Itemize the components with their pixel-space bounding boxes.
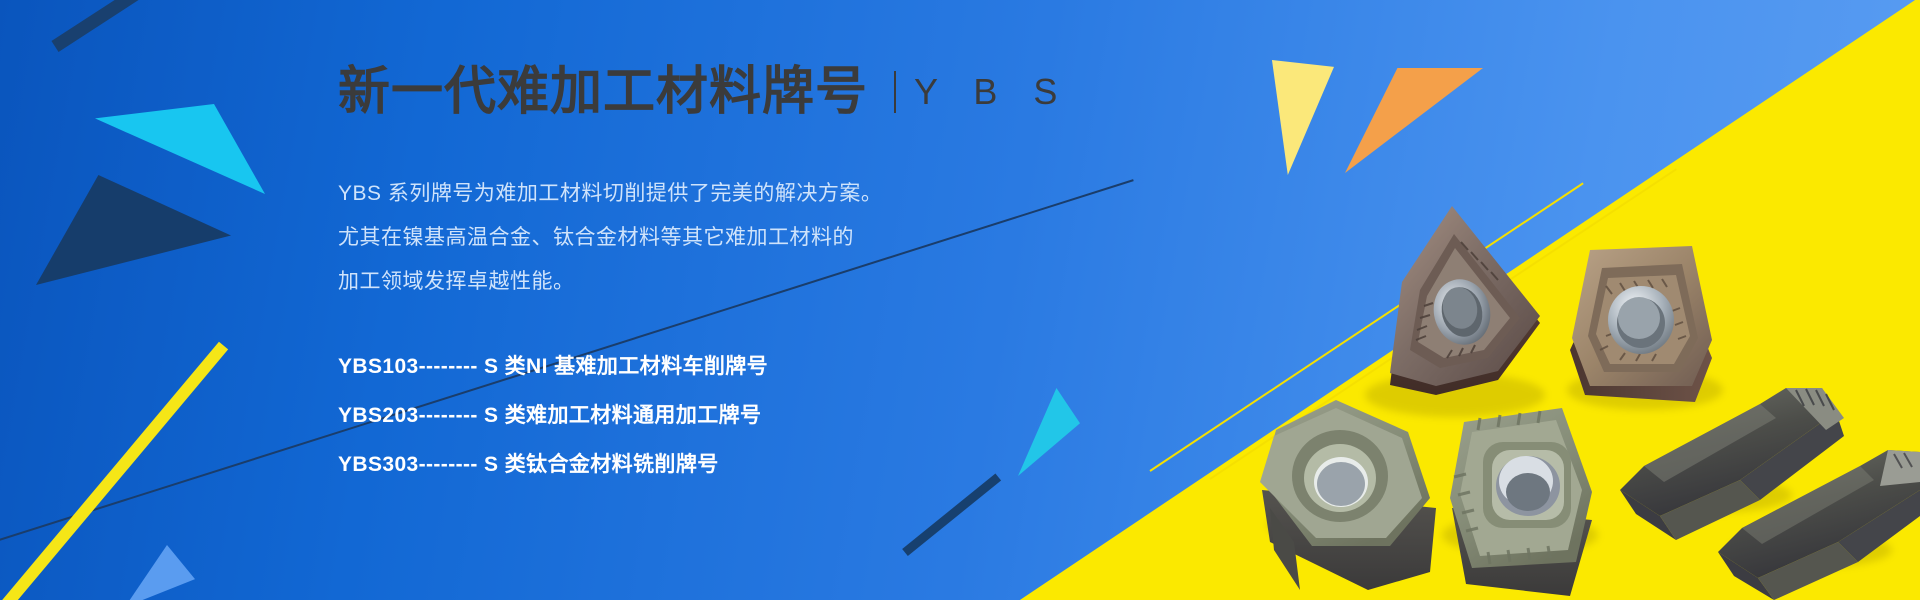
model-list: YBS103-------- S 类NI 基难加工材料车削牌号 YBS203--…: [338, 342, 1198, 489]
navy-diagonal-bar: [51, 0, 310, 52]
navy-triangle-left: [36, 175, 231, 285]
banner-copy: 新一代难加工材料牌号 Y B S YBS 系列牌号为难加工材料切削提供了完美的解…: [338, 66, 1198, 489]
orange-triangle-top: [1345, 68, 1483, 173]
model-item-ybs303: YBS303-------- S 类钛合金材料铣削牌号: [338, 440, 1198, 489]
description-line: 加工领域发挥卓越性能。: [338, 260, 1198, 304]
light-blue-triangle-bottom: [125, 545, 195, 600]
description-line: YBS 系列牌号为难加工材料切削提供了完美的解决方案。: [338, 172, 1198, 216]
title-english: Y B S: [914, 74, 1070, 110]
square-milling-insert: [1450, 408, 1592, 596]
title-chinese: 新一代难加工材料牌号: [338, 66, 868, 118]
yellow-triangle-top: [1268, 60, 1334, 175]
carbide-inserts-illustration: [1240, 190, 1920, 600]
description-block: YBS 系列牌号为难加工材料切削提供了完美的解决方案。 尤其在镍基高温合金、钛合…: [338, 172, 1198, 304]
cnmg-square-insert: [1570, 246, 1712, 402]
product-banner: 新一代难加工材料牌号 Y B S YBS 系列牌号为难加工材料切削提供了完美的解…: [0, 0, 1920, 600]
title-separator: [894, 71, 896, 113]
model-item-ybs203: YBS203-------- S 类难加工材料通用加工牌号: [338, 391, 1198, 440]
wnmg-trigon-insert: [1390, 206, 1540, 395]
cyan-triangle-upper-left: [95, 104, 265, 194]
page-title: 新一代难加工材料牌号 Y B S: [338, 66, 1198, 118]
round-face-milling-insert: [1260, 400, 1436, 590]
product-insert-group: [1240, 190, 1920, 600]
yellow-diagonal-bar: [0, 342, 228, 600]
model-item-ybs103: YBS103-------- S 类NI 基难加工材料车削牌号: [338, 342, 1198, 391]
description-line: 尤其在镍基高温合金、钛合金材料等其它难加工材料的: [338, 216, 1198, 260]
